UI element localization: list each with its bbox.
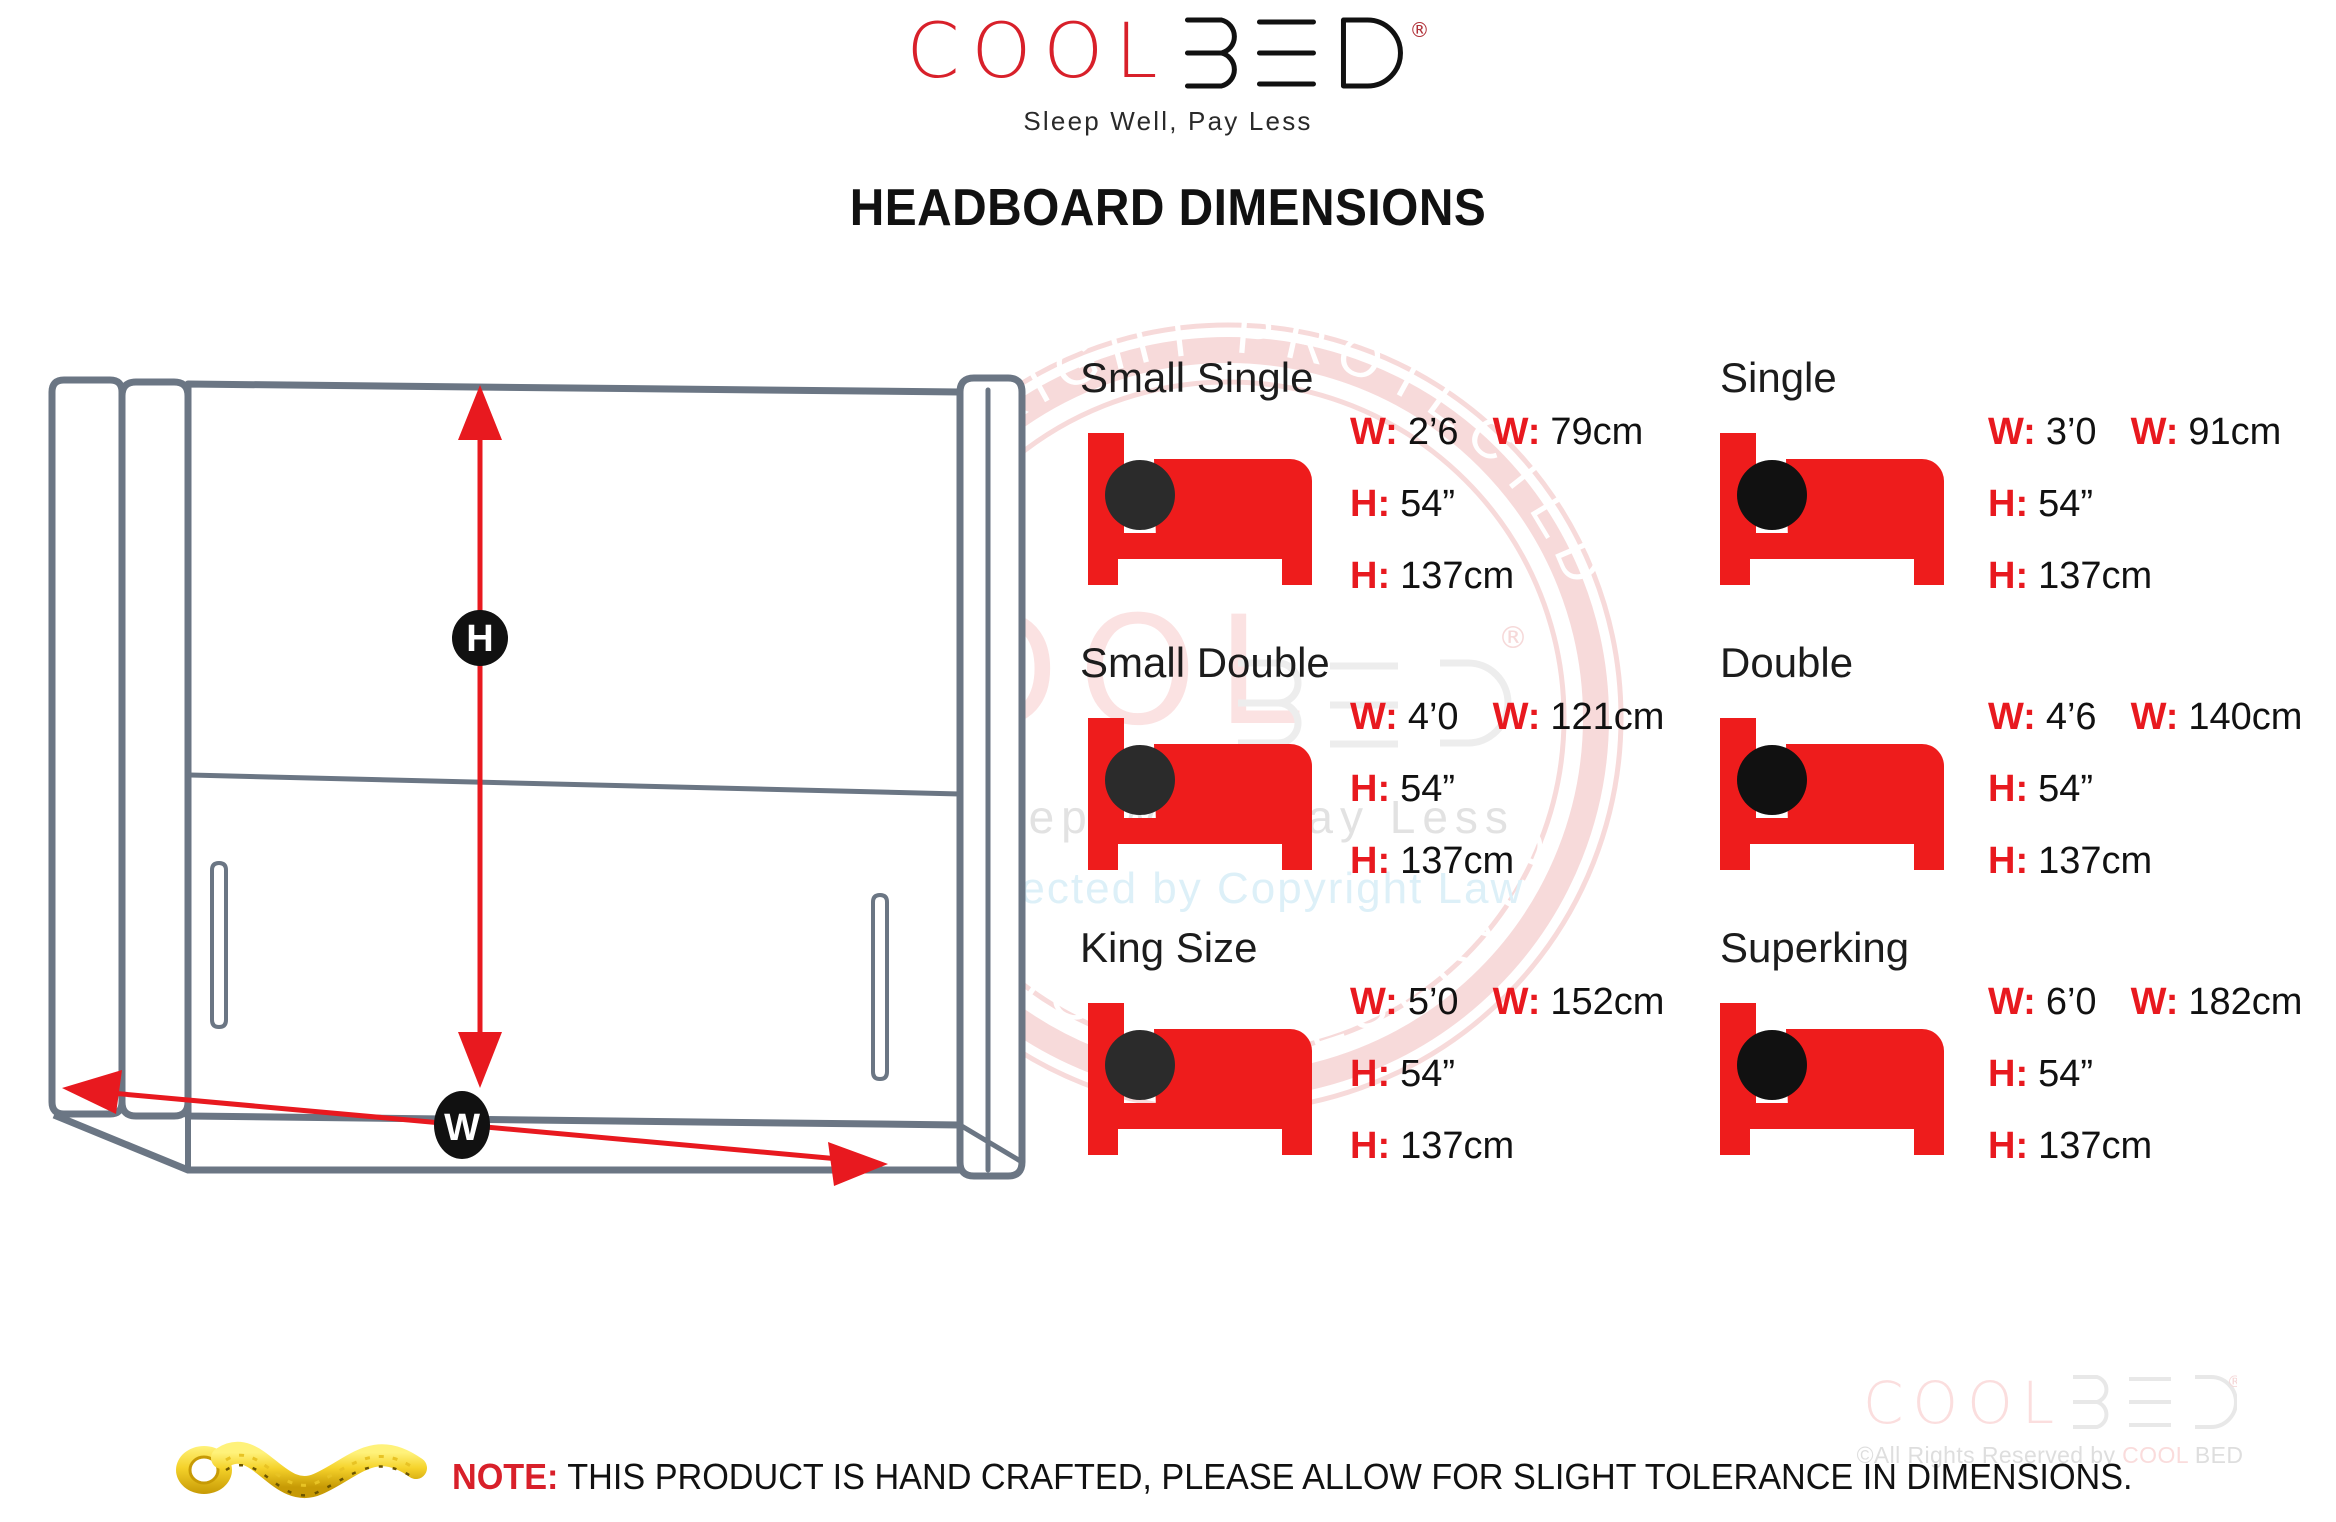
headboard-left-post-outer <box>52 380 122 1114</box>
dim-value-w1: 2’6 <box>1408 411 1459 454</box>
width-badge-label: W <box>444 1107 480 1149</box>
headboard-main-panel <box>188 384 960 1125</box>
brand-registered-icon: ® <box>1410 18 1430 42</box>
dimension-row: W: 3’0 W: 91cm <box>1988 411 2281 483</box>
bed-icon <box>1720 999 1970 1164</box>
size-column-left: Small Single W: 2’6 <box>1080 355 1720 1210</box>
dim-value-w1: 4’0 <box>1408 696 1459 739</box>
headboard-left-post-inner <box>122 382 188 1116</box>
headboard-diagram: H W <box>30 370 1030 1220</box>
dimension-row: H: 54” <box>1988 1053 2302 1125</box>
dim-value-w1: 6’0 <box>2046 981 2097 1024</box>
dim-label-h2: H: <box>1988 1125 2028 1168</box>
dim-label-w2: W: <box>2131 696 2179 739</box>
bed-icon <box>1088 429 1338 594</box>
size-block-superking: Superking W: 6’0 <box>1720 925 2336 1210</box>
dimension-row: W: 4’6 W: 140cm <box>1988 696 2302 768</box>
measuring-tape-icon <box>168 1424 468 1514</box>
dim-value-h1: 54” <box>2038 483 2093 526</box>
brand-logo-bed-icon <box>1178 14 1408 97</box>
dim-value-h2: 137cm <box>1400 1125 1514 1168</box>
dimension-row: W: 4’0 W: 121cm <box>1350 696 1664 768</box>
dimension-row: H: 137cm <box>1350 1125 1664 1197</box>
height-badge-label: H <box>466 618 493 660</box>
dim-label-w1: W: <box>1350 981 1398 1024</box>
dimension-row: H: 54” <box>1988 483 2281 555</box>
dim-label-h1: H: <box>1350 1053 1390 1096</box>
bed-size-grid: Small Single W: 2’6 <box>1080 355 2336 1215</box>
dim-value-w2: 140cm <box>2188 696 2302 739</box>
size-name: Small Single <box>1080 355 1720 401</box>
note-bar: NOTE: THIS PRODUCT IS HAND CRAFTED, PLEA… <box>452 1456 2133 1498</box>
dim-label-w1: W: <box>1988 696 2036 739</box>
dimension-list: W: 3’0 W: 91cm H: 54” H: 137cm <box>1988 411 2281 627</box>
dim-value-w2: 152cm <box>1550 981 1664 1024</box>
dimension-row: H: 137cm <box>1350 840 1664 912</box>
dim-label-h2: H: <box>1350 1125 1390 1168</box>
footer-copyright-bed: BED <box>2188 1442 2243 1468</box>
dim-label-h2: H: <box>1350 840 1390 883</box>
size-name: Double <box>1720 640 2336 686</box>
dim-value-w1: 4’6 <box>2046 696 2097 739</box>
dim-label-w2: W: <box>1493 981 1541 1024</box>
dimension-row: H: 137cm <box>1988 555 2281 627</box>
width-arrow-head-right <box>828 1142 888 1186</box>
bed-icon <box>1720 429 1970 594</box>
dim-label-h2: H: <box>1988 555 2028 598</box>
size-column-right: Single W: 3’0 <box>1720 355 2336 1210</box>
dim-label-w1: W: <box>1988 411 2036 454</box>
dimension-list: W: 2’6 W: 79cm H: 54” H: 137cm <box>1350 411 1643 627</box>
headboard-handle-left <box>212 863 226 1027</box>
dimension-row: W: 2’6 W: 79cm <box>1350 411 1643 483</box>
dim-value-h2: 137cm <box>2038 1125 2152 1168</box>
dimension-row: H: 54” <box>1350 768 1664 840</box>
dim-value-w2: 121cm <box>1550 696 1664 739</box>
dim-value-w1: 5’0 <box>1408 981 1459 1024</box>
size-block-small-single: Small Single W: 2’6 <box>1080 355 1720 640</box>
dimension-row: W: 6’0 W: 182cm <box>1988 981 2302 1053</box>
size-block-single: Single W: 3’0 <box>1720 355 2336 640</box>
dim-label-h1: H: <box>1350 483 1390 526</box>
dim-value-w2: 79cm <box>1550 411 1643 454</box>
dim-value-h2: 137cm <box>2038 840 2152 883</box>
size-block-king-size: King Size W: 5’0 <box>1080 925 1720 1210</box>
bed-icon <box>1088 714 1338 879</box>
dim-label-h1: H: <box>1988 768 2028 811</box>
footer-watermark-bed-icon: ® <box>2067 1373 2237 1433</box>
size-name: Superking <box>1720 925 2336 971</box>
page-header: COOL ® Sleep Well, Pay Less HEADBOARD DI… <box>0 0 2336 250</box>
dim-value-h1: 54” <box>1400 1053 1455 1096</box>
dim-label-w2: W: <box>2131 411 2179 454</box>
size-name: Single <box>1720 355 2336 401</box>
dim-value-w2: 182cm <box>2188 981 2302 1024</box>
note-text: THIS PRODUCT IS HAND CRAFTED, PLEASE ALL… <box>558 1456 2132 1497</box>
dimension-list: W: 5’0 W: 152cm H: 54” H: 137cm <box>1350 981 1664 1197</box>
dim-label-h1: H: <box>1350 768 1390 811</box>
headboard-handle-right <box>873 895 887 1079</box>
bed-icon <box>1088 999 1338 1164</box>
dimension-row: W: 5’0 W: 152cm <box>1350 981 1664 1053</box>
svg-text:®: ® <box>2227 1373 2237 1391</box>
bed-icon <box>1720 714 1970 879</box>
page-title: HEADBOARD DIMENSIONS <box>93 178 2242 238</box>
dim-value-h1: 54” <box>1400 768 1455 811</box>
size-name: Small Double <box>1080 640 1720 686</box>
dimension-list: W: 6’0 W: 182cm H: 54” H: 137cm <box>1988 981 2302 1197</box>
dim-value-h1: 54” <box>1400 483 1455 526</box>
footer-watermark-cool: COOL <box>1863 1369 2063 1437</box>
dimension-row: H: 137cm <box>1350 555 1643 627</box>
dimension-row: H: 54” <box>1350 1053 1664 1125</box>
dimension-row: H: 137cm <box>1988 1125 2302 1197</box>
dim-value-h2: 137cm <box>1400 555 1514 598</box>
brand-logo: COOL ® Sleep Well, Pay Less <box>906 14 1429 137</box>
dim-value-w1: 3’0 <box>2046 411 2097 454</box>
headboard-right-post-outer <box>960 378 1022 1176</box>
dimension-row: H: 137cm <box>1988 840 2302 912</box>
dim-value-h2: 137cm <box>2038 555 2152 598</box>
dimension-list: W: 4’6 W: 140cm H: 54” H: 137cm <box>1988 696 2302 912</box>
dimension-row: H: 54” <box>1350 483 1643 555</box>
dim-label-h1: H: <box>1988 483 2028 526</box>
dimension-row: H: 54” <box>1988 768 2302 840</box>
dim-label-h1: H: <box>1988 1053 2028 1096</box>
brand-logo-cool: COOL <box>906 14 1169 88</box>
dim-label-w1: W: <box>1350 411 1398 454</box>
dim-label-w2: W: <box>2131 981 2179 1024</box>
dim-label-h2: H: <box>1988 840 2028 883</box>
dim-label-w2: W: <box>1493 696 1541 739</box>
dim-label-w2: W: <box>1493 411 1541 454</box>
dimension-list: W: 4’0 W: 121cm H: 54” H: 137cm <box>1350 696 1664 912</box>
size-block-small-double: Small Double W: 4’0 <box>1080 640 1720 925</box>
dim-label-w1: W: <box>1988 981 2036 1024</box>
size-block-double: Double W: 4’6 <box>1720 640 2336 925</box>
brand-logo-wordmark: COOL ® <box>906 14 1429 92</box>
dim-label-h2: H: <box>1350 555 1390 598</box>
dim-value-w2: 91cm <box>2188 411 2281 454</box>
size-name: King Size <box>1080 925 1720 971</box>
brand-tagline: Sleep Well, Pay Less <box>1023 106 1312 137</box>
footer-watermark-logo: COOL ® <box>1790 1368 2310 1438</box>
dim-value-h1: 54” <box>2038 768 2093 811</box>
dim-label-w1: W: <box>1350 696 1398 739</box>
dim-value-h2: 137cm <box>1400 840 1514 883</box>
dim-value-h1: 54” <box>2038 1053 2093 1096</box>
note-label: NOTE: <box>452 1456 558 1497</box>
